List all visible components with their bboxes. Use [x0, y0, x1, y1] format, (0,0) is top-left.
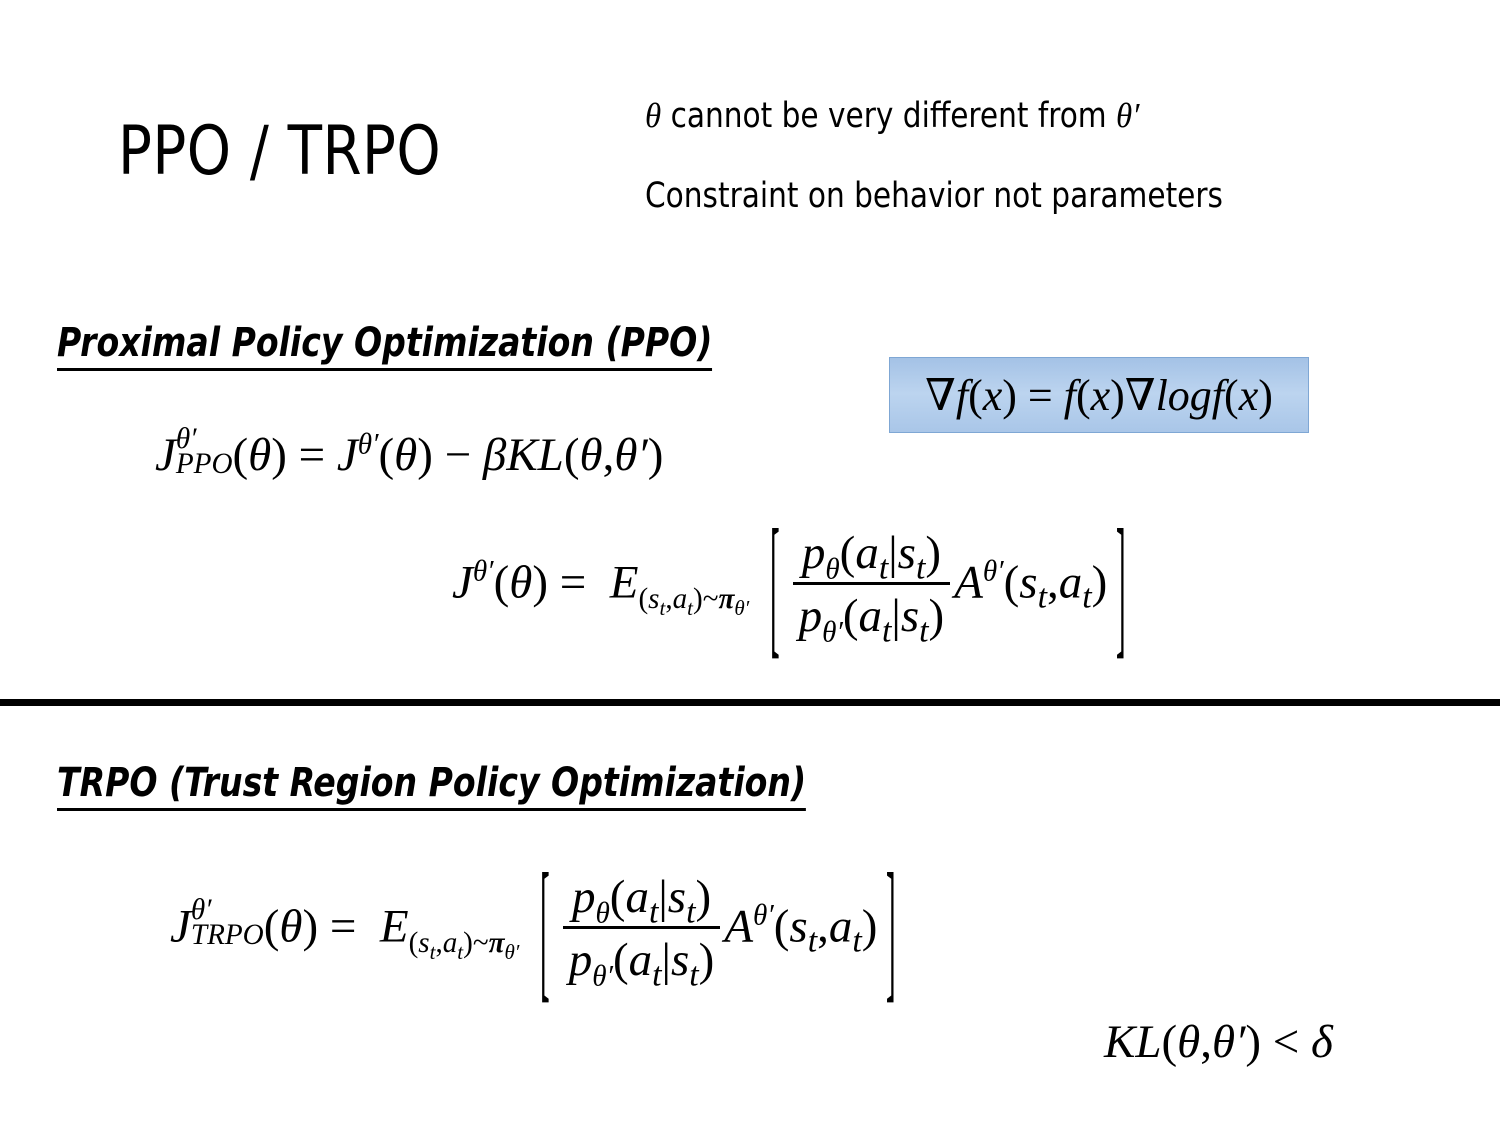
- E-expectation-operator-trpo: E: [380, 900, 409, 952]
- superscript-theta-prime-exp: θ′: [473, 556, 494, 588]
- rparen-kl-ppo: ): [648, 429, 664, 481]
- comma-kl-constraint: ,: [1200, 1016, 1212, 1068]
- s-den-trpo: s: [671, 934, 689, 986]
- lparen-num: (: [840, 527, 856, 579]
- p-denominator: p: [799, 590, 823, 642]
- J-symbol-ppo: J: [155, 429, 176, 481]
- A-advantage-symbol-trpo: A: [724, 900, 753, 952]
- superscript-theta-prime-2: θ′: [358, 428, 379, 460]
- rparen-den-trpo: ): [699, 934, 715, 986]
- lparen-num-trpo: (: [610, 871, 626, 923]
- a-num-trpo: a: [625, 871, 649, 923]
- left-bracket-exp: [: [770, 496, 780, 677]
- pi-policy-symbol: π: [718, 583, 734, 615]
- t-sub-s-A: t: [1038, 579, 1047, 616]
- theta-prime-symbol: θ′: [1116, 96, 1139, 135]
- page-title: PPO / TRPO: [118, 118, 441, 186]
- t-sub-a-den-trpo: t: [652, 956, 661, 993]
- s-A: s: [1019, 556, 1037, 608]
- rparen-num-trpo: ): [695, 871, 711, 923]
- t-sub-a-A: t: [1082, 579, 1091, 616]
- formula-ppo-objective: Jθ′PPO(θ) = Jθ′(θ) − βKL(θ,θ′): [155, 428, 663, 486]
- x-symbol-2: x: [1091, 371, 1111, 420]
- a-A-trpo: a: [829, 900, 853, 952]
- rparen-sub-trpo: ): [463, 927, 473, 959]
- a-symbol-sub-trpo: a: [443, 927, 458, 959]
- theta-prime-policy-subscript: θ′: [734, 596, 749, 620]
- KL-operator-constraint: KL: [1104, 1016, 1162, 1068]
- f-symbol-3: f: [1212, 371, 1224, 420]
- A-advantage-symbol: A: [954, 556, 983, 608]
- section-heading-trpo: TRPO (Trust Region Policy Optimization): [57, 762, 806, 811]
- a-den: a: [859, 590, 883, 642]
- rparen-kl-constraint: ): [1245, 1016, 1261, 1068]
- theta-arg-exp: θ: [509, 556, 532, 608]
- pi-policy-symbol-trpo: π: [489, 927, 505, 959]
- rparen-den: ): [929, 590, 945, 642]
- J-symbol-exp: J: [452, 556, 473, 608]
- fraction-numerator: pθ(at|st): [793, 526, 951, 585]
- less-than-sign: <: [1273, 1016, 1300, 1068]
- KL-operator-ppo: KL: [506, 429, 564, 481]
- lparen-trpo: (: [264, 900, 280, 952]
- expectation-subscript-trpo: (st,at)~πθ′: [409, 927, 520, 959]
- note-text-middle: cannot be very different from: [661, 96, 1116, 136]
- lparen-den-trpo: (: [613, 934, 629, 986]
- rparen-A: ): [1092, 556, 1108, 608]
- fraction-numerator-trpo: pθ(at|st): [563, 870, 721, 929]
- a-num: a: [855, 527, 879, 579]
- rparen-jtheta: ): [417, 429, 433, 481]
- theta-arg-jtheta: θ: [394, 429, 417, 481]
- pipe-num: |: [888, 527, 897, 579]
- expectation-subscript: (st,at)~πθ′: [638, 583, 749, 615]
- theta-prime-subscript-den: θ′: [822, 616, 843, 648]
- p-numerator: p: [802, 527, 826, 579]
- lparen-2: (: [1076, 371, 1091, 420]
- pipe-den-trpo: |: [662, 934, 671, 986]
- theta-subscript-num-trpo: θ: [595, 897, 609, 929]
- x-symbol-1: x: [983, 371, 1003, 420]
- pipe-num-trpo: |: [658, 871, 667, 923]
- nabla-icon-2: ∇: [1125, 371, 1156, 420]
- rparen-exp: ): [532, 556, 548, 608]
- fraction-denominator: pθ′(at|st): [793, 585, 951, 643]
- f-symbol-1: f: [956, 371, 968, 420]
- s-A-trpo: s: [789, 900, 807, 952]
- comma-A-trpo: ,: [817, 900, 829, 952]
- J-trpo-script: θ′TRPO: [191, 896, 264, 950]
- section-heading-ppo: Proximal Policy Optimization (PPO): [57, 322, 712, 371]
- theta-kl-ppo: θ: [579, 429, 602, 481]
- t-sub-s-num: t: [916, 549, 925, 586]
- theta-arg-ppo: θ: [248, 429, 271, 481]
- theta-prime-subscript-den-trpo: θ′: [592, 960, 613, 992]
- importance-ratio-fraction-trpo: pθ(at|st)pθ′(at|st): [563, 870, 721, 987]
- comma-sub-trpo: ,: [435, 927, 442, 959]
- subscript-trpo: TRPO: [191, 921, 264, 950]
- minus-sign: −: [445, 429, 472, 481]
- subscript-ppo: PPO: [176, 450, 233, 479]
- lparen-den: (: [843, 590, 859, 642]
- note-line-constraint-behavior: Constraint on behavior not parameters: [645, 179, 1397, 214]
- comma-sub: ,: [665, 583, 672, 615]
- log-operator: log: [1156, 371, 1212, 420]
- superscript-theta-prime-A-trpo: θ′: [753, 900, 774, 932]
- superscript-theta-prime-A: θ′: [983, 556, 1004, 588]
- E-expectation-operator: E: [610, 556, 639, 608]
- s-num: s: [898, 527, 916, 579]
- pipe-den: |: [891, 590, 900, 642]
- t-sub-a-num-trpo: t: [649, 893, 658, 930]
- comma-A: ,: [1047, 556, 1059, 608]
- theta-prime-kl-ppo: θ′: [614, 429, 647, 481]
- lparen-A: (: [1004, 556, 1020, 608]
- right-bracket-trpo: ]: [886, 840, 896, 1021]
- rparen-1: ): [1002, 371, 1017, 420]
- equals-sign-trpo: =: [330, 900, 357, 952]
- s-symbol-sub: s: [648, 583, 659, 615]
- header-notes: θ cannot be very different from θ′ Const…: [645, 98, 1445, 214]
- lparen-sub: (: [638, 583, 648, 615]
- lparen-exp: (: [494, 556, 510, 608]
- s-symbol-sub-trpo: s: [418, 927, 429, 959]
- left-bracket-trpo: [: [540, 840, 550, 1021]
- right-bracket-exp: ]: [1116, 496, 1126, 677]
- formula-ppo-expectation: Jθ′(θ) = E(st,at)~πθ′ [pθ(at|st)pθ′(at|s…: [452, 528, 1135, 645]
- equals-sign-exp: =: [560, 556, 587, 608]
- theta-symbol: θ: [645, 96, 661, 135]
- lparen-ppo: (: [233, 429, 249, 481]
- t-sub-a-num: t: [879, 549, 888, 586]
- formula-kl-constraint: KL(θ,θ′) < δ: [1104, 1015, 1333, 1069]
- t-sub-s-den: t: [919, 612, 928, 649]
- rparen-num: ): [925, 527, 941, 579]
- p-numerator-trpo: p: [572, 871, 596, 923]
- equals-sign-ppo: =: [299, 429, 326, 481]
- rparen-ppo: ): [271, 429, 287, 481]
- t-sub-a-A-trpo: t: [852, 923, 861, 960]
- comma-kl-ppo: ,: [603, 429, 615, 481]
- lparen-1: (: [968, 371, 983, 420]
- s-num-trpo: s: [668, 871, 686, 923]
- tilde-distributed-as: ~: [703, 583, 719, 615]
- theta-subscript-num: θ: [825, 553, 839, 585]
- lparen-kl-constraint: (: [1162, 1016, 1178, 1068]
- x-symbol-3: x: [1239, 371, 1259, 420]
- rparen-3: ): [1258, 371, 1273, 420]
- a-den-trpo: a: [629, 934, 653, 986]
- t-sub-s-den-trpo: t: [689, 956, 698, 993]
- highlight-box-gradient-identity: ∇f(x) = f(x)∇logf(x): [889, 357, 1309, 433]
- rparen-trpo: ): [302, 900, 318, 952]
- lparen-A-trpo: (: [774, 900, 790, 952]
- rparen-A-trpo: ): [862, 900, 878, 952]
- t-sub-a-den: t: [882, 612, 891, 649]
- section-divider: [0, 699, 1500, 706]
- J-ppo-script: θ′PPO: [176, 425, 233, 479]
- a-symbol-sub: a: [673, 583, 688, 615]
- J-symbol-trpo: J: [170, 900, 191, 952]
- lparen-jtheta: (: [378, 429, 394, 481]
- equals-sign-1: =: [1028, 371, 1053, 420]
- theta-kl-constraint: θ: [1177, 1016, 1200, 1068]
- theta-prime-policy-subscript-trpo: θ′: [505, 940, 520, 964]
- t-sub-s-A-trpo: t: [808, 923, 817, 960]
- nabla-icon: ∇: [925, 371, 956, 420]
- theta-arg-trpo: θ: [279, 900, 302, 952]
- a-A: a: [1059, 556, 1083, 608]
- delta-symbol: δ: [1311, 1016, 1333, 1068]
- rparen-sub: ): [693, 583, 703, 615]
- note-line-theta-difference: θ cannot be very different from θ′: [645, 98, 1397, 134]
- formula-trpo-objective: Jθ′TRPO(θ) = E(st,at)~πθ′ [pθ(at|st)pθ′(…: [170, 872, 905, 989]
- formula-gradient-log-identity: ∇f(x) = f(x)∇logf(x): [925, 370, 1273, 421]
- rparen-2: ): [1110, 371, 1125, 420]
- tilde-distributed-as-trpo: ~: [473, 927, 489, 959]
- f-symbol-2: f: [1064, 371, 1076, 420]
- fraction-denominator-trpo: pθ′(at|st): [563, 929, 721, 987]
- lparen-3: (: [1224, 371, 1239, 420]
- beta-symbol: β: [483, 429, 506, 481]
- p-denominator-trpo: p: [569, 934, 593, 986]
- lparen-kl-ppo: (: [564, 429, 580, 481]
- slide-canvas: PPO / TRPO θ cannot be very different fr…: [0, 0, 1500, 1125]
- theta-prime-kl-constraint: θ′: [1212, 1016, 1245, 1068]
- J-symbol-theta: J: [337, 429, 358, 481]
- importance-ratio-fraction: pθ(at|st)pθ′(at|st): [793, 526, 951, 643]
- lparen-sub-trpo: (: [409, 927, 419, 959]
- s-den: s: [901, 590, 919, 642]
